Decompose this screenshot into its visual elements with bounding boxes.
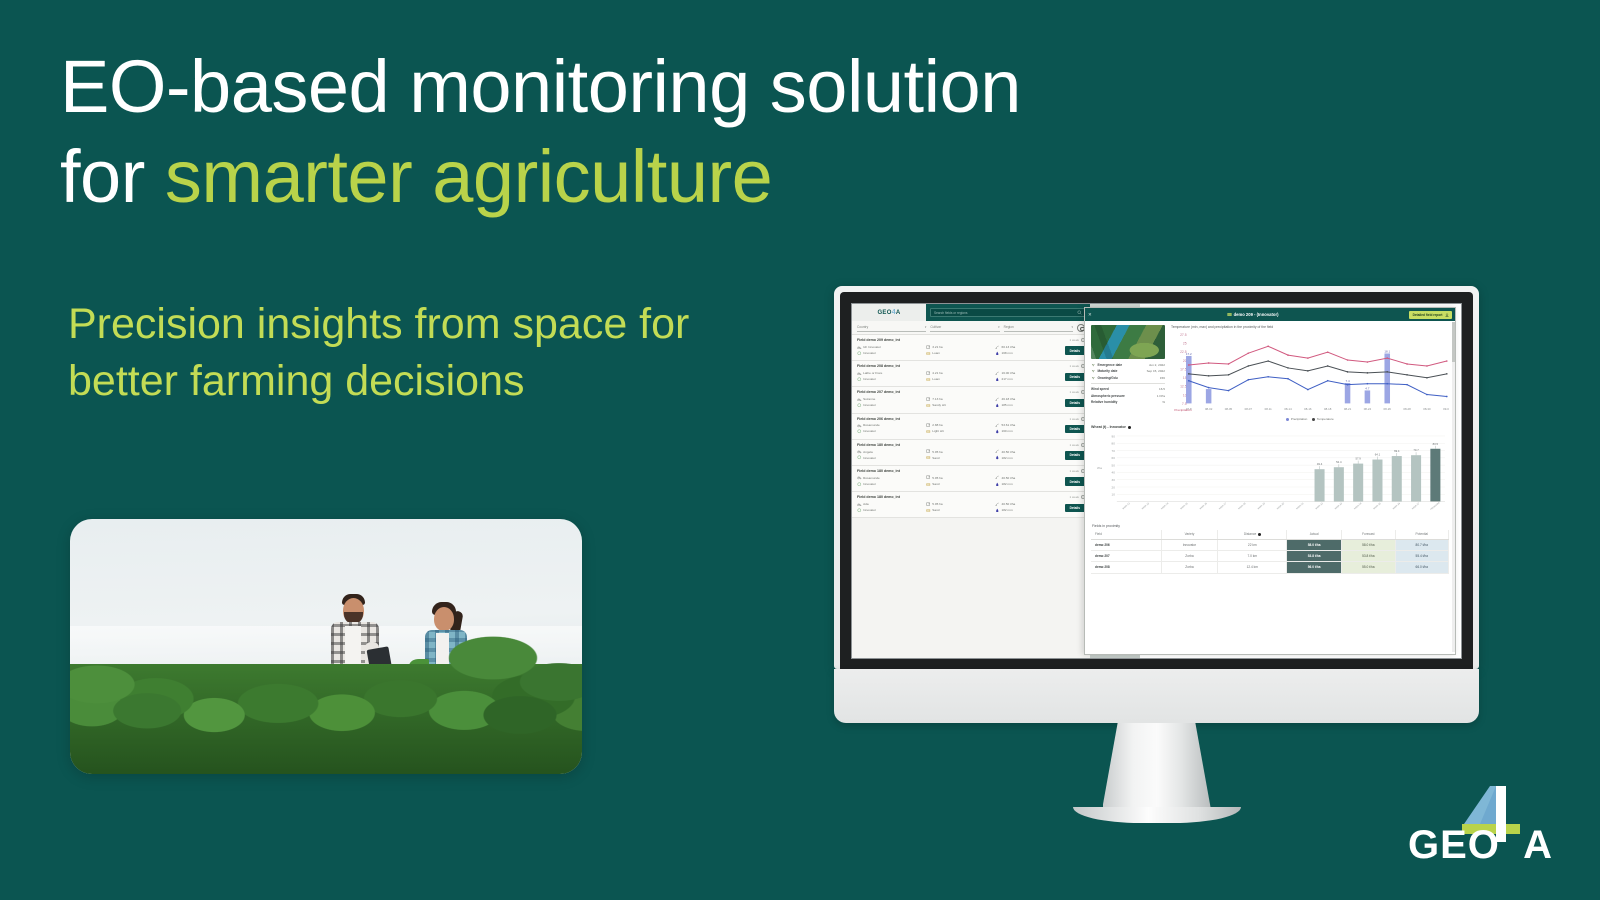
svg-text:week 28: week 28 <box>1238 502 1247 511</box>
field-card-area: 3.21 ha <box>926 345 992 350</box>
info-value: 1 hPa <box>1157 394 1165 398</box>
field-card[interactable]: Field demo 180 demo_int 1 week Angela In… <box>852 440 1090 466</box>
modal-title-text: demo 209 - (Innovator) <box>1234 312 1279 317</box>
field-card-status: Innovator <box>857 482 923 487</box>
table-column-header[interactable]: Variety <box>1161 530 1218 539</box>
field-card-header: Field demo 180 demo_int 1 week <box>857 443 1085 447</box>
svg-text:week 25: week 25 <box>1180 502 1189 511</box>
app-logo[interactable]: GEO4A <box>852 304 926 321</box>
field-card-growth: 182 mm <box>995 508 1061 513</box>
weather-chart: Temperature (min, max) and precipitation… <box>1171 325 1449 421</box>
yield-chart-svg: 908070605040302010t/haweek 22week 23week… <box>1091 430 1449 520</box>
field-card-details-button[interactable]: Details <box>1065 504 1085 512</box>
field-card-header: Field demo 206 demo_int 1 week <box>857 417 1085 421</box>
field-card-body: Lathe or Fiore Innovator 4.21 ha Loam 16… <box>857 371 1085 383</box>
table-column-header[interactable]: Potential <box>1395 530 1449 539</box>
field-card-growth: 182 mm <box>995 482 1061 487</box>
field-card-area: 5.05 ha <box>926 502 992 507</box>
legend-label: Temperature <box>1317 417 1334 421</box>
field-card-body: Rosamunde Innovator 5.05 ha Sand 40.50 t… <box>857 475 1085 487</box>
svg-text:08-02: 08-02 <box>1205 407 1213 411</box>
table-cell: 7.0 km <box>1218 550 1287 561</box>
field-card-soil: Sandy silt <box>926 403 992 408</box>
chevron-down-icon: ▾ <box>925 325 927 329</box>
svg-text:week 29: week 29 <box>1257 502 1266 511</box>
tractor-icon <box>857 449 862 454</box>
field-card[interactable]: Field demo 180 demo_int 1 week Rosamunde… <box>852 466 1090 492</box>
svg-text:25: 25 <box>1183 342 1187 346</box>
svg-text:week 24: week 24 <box>1160 502 1169 511</box>
field-card-yield: 53.61 t/ha <box>995 423 1061 428</box>
svg-text:12.5: 12.5 <box>1180 385 1187 389</box>
field-card-col-area: 5.05 ha Sand <box>926 502 992 514</box>
field-card-col-area: 3.21 ha Loam <box>926 345 992 357</box>
soil-icon <box>926 351 931 356</box>
field-card-meta: 1 week <box>1069 364 1085 368</box>
table-cell: 56.0 t/ha <box>1287 562 1342 573</box>
table-cell: demo 206 <box>1091 539 1161 550</box>
field-card[interactable]: Field demo 180 demo_int 1 week Ada Innov… <box>852 492 1090 518</box>
sprout-icon <box>1091 363 1096 368</box>
close-icon[interactable]: ✕ <box>1088 312 1096 318</box>
field-card-col-yield: 60.13 t/ha 168 mm <box>995 345 1061 357</box>
yield-chart-header: Wheat (t) - Innovator <box>1091 425 1449 429</box>
download-icon <box>1445 313 1449 317</box>
soil-icon <box>926 429 931 434</box>
logo-suffix: A <box>896 310 901 316</box>
field-card-col-area: 2.88 ha Light silt <box>926 423 992 435</box>
proximity-table: FieldVarietyDistanceActualForecastPotent… <box>1091 530 1449 574</box>
table-cell: 12.4 km <box>1218 562 1287 573</box>
svg-text:08-05: 08-05 <box>1225 407 1233 411</box>
weather-info-list: Wind speed16.5Atmospheric pressure1 hPaR… <box>1091 387 1165 403</box>
field-card[interactable]: Field demo 209 demo_int 1 week Ich Innov… <box>852 335 1090 361</box>
app-topbar: GEO4A Search fields or regions <box>852 304 1090 321</box>
svg-text:10: 10 <box>1112 493 1116 497</box>
monitor-stand-foot <box>1073 807 1241 823</box>
svg-text:50: 50 <box>1112 464 1116 468</box>
table-column-header[interactable]: Actual <box>1287 530 1342 539</box>
area-icon <box>926 423 931 428</box>
area-icon <box>926 371 931 376</box>
field-card-soil: Loam <box>926 377 992 382</box>
modal-body: Emergence dateJun 2, 2022Maturity dateSe… <box>1085 321 1455 654</box>
field-card-details-button[interactable]: Details <box>1065 346 1085 354</box>
field-card-col-variety: Ich Innovator Innovator <box>857 345 923 357</box>
field-card-growth: 182 mm <box>995 455 1061 460</box>
field-card-variety: Rosamunde <box>857 475 923 480</box>
field-card-title: Field demo 180 demo_int <box>857 443 900 447</box>
hero-photo <box>70 519 582 774</box>
field-card-yield: 40.50 t/ha <box>995 449 1061 454</box>
table-cell: 55.4 t/ha <box>1395 550 1449 561</box>
table-cell: 22 km <box>1218 539 1287 550</box>
legend-dot <box>1286 418 1289 421</box>
tractor-icon <box>857 345 862 350</box>
svg-text:80: 80 <box>1112 442 1116 446</box>
field-card-status: Innovator <box>857 455 923 460</box>
field-card[interactable]: Field demo 206 demo_int 1 week Rosamunde… <box>852 414 1090 440</box>
svg-text:7.5: 7.5 <box>1182 402 1187 406</box>
svg-text:week 32: week 32 <box>1315 502 1324 511</box>
field-card-yield: 40.50 t/ha <box>995 502 1061 507</box>
svg-text:week 36: week 36 <box>1392 502 1401 511</box>
search-wrapper: Search fields or regions <box>926 308 1090 317</box>
water-drop-icon <box>995 429 1000 434</box>
chevron-down-icon: ▾ <box>998 325 1000 329</box>
wheat-icon <box>1091 369 1096 374</box>
table-row[interactable]: demo 208Zorba12.4 km56.0 t/ha55.0 t/ha66… <box>1091 562 1449 573</box>
status-circle-icon <box>857 508 862 513</box>
table-cell: 58.0 t/ha <box>1287 539 1342 550</box>
svg-text:08-11: 08-11 <box>1265 407 1273 411</box>
proximity-table-title: Fields in proximity <box>1092 524 1449 528</box>
crop-canopy-left <box>70 658 192 774</box>
detailed-field-report-button[interactable]: Detailed field report <box>1409 311 1452 319</box>
field-card-col-yield: 53.61 t/ha 160 mm <box>995 423 1061 435</box>
table-cell: Zorba <box>1161 550 1218 561</box>
field-card-growth: 168 mm <box>995 351 1061 356</box>
svg-text:70: 70 <box>1112 449 1116 453</box>
field-card-status: Innovator <box>857 351 923 356</box>
weather-info-row: Relative humidity% <box>1091 400 1165 404</box>
field-card-area: 2.88 ha <box>926 423 992 428</box>
info-value: Jun 2, 2022 <box>1149 363 1165 367</box>
brand-suffix: A <box>1523 823 1553 867</box>
field-card-col-yield: 16.00 t/ha 217 mm <box>995 371 1061 383</box>
svg-text:17.5: 17.5 <box>1180 367 1187 371</box>
field-card-details-button[interactable]: Details <box>1065 477 1085 485</box>
field-card-body: Ada Innovator 5.05 ha Sand 40.50 t/ha 18… <box>857 502 1085 514</box>
modal-header: ✕ demo 209 - (Innovator) Detailed field … <box>1085 308 1455 321</box>
sort-indicator-icon <box>1258 533 1261 536</box>
svg-text:40: 40 <box>1112 471 1116 475</box>
svg-text:08-26: 08-26 <box>1384 407 1392 411</box>
search-icon <box>1077 310 1082 315</box>
svg-text:20: 20 <box>1112 486 1116 490</box>
svg-text:70.7: 70.7 <box>1413 448 1419 452</box>
soil-icon <box>926 482 931 487</box>
field-card-variety: Ada <box>857 502 923 507</box>
table-cell: 55.0 t/ha <box>1342 562 1395 573</box>
field-card-meta: 1 week <box>1069 390 1085 394</box>
svg-text:64.1: 64.1 <box>1375 453 1381 457</box>
report-button-label: Detailed field report <box>1413 313 1443 317</box>
water-drop-icon <box>995 508 1000 513</box>
svg-text:08-07: 08-07 <box>1245 407 1253 411</box>
field-card-body: Suzanne Innovator 7.13 ha Sandy silt 46.… <box>857 397 1085 409</box>
field-card-soil: Sand <box>926 455 992 460</box>
table-cell: Innovator <box>1161 539 1218 550</box>
search-placeholder: Search fields or regions <box>934 311 968 315</box>
legend-item[interactable]: Precipitation <box>1286 417 1307 421</box>
field-card-title: Field demo 180 demo_int <box>857 495 900 499</box>
field-card[interactable]: Field demo 208 demo_int 1 week Lathe or … <box>852 361 1090 387</box>
weather-chart-legend: PrecipitationTemperature <box>1171 417 1449 421</box>
svg-text:week 30: week 30 <box>1276 502 1285 511</box>
svg-text:week 33: week 33 <box>1334 502 1343 511</box>
weather-chart-title: Temperature (min, max) and precipitation… <box>1171 325 1449 329</box>
field-card-details-button[interactable]: Details <box>1065 451 1085 459</box>
table-cell: 80.7 t/ha <box>1395 539 1449 550</box>
info-value: 16.5 <box>1159 387 1165 391</box>
svg-text:08-16: 08-16 <box>1304 407 1312 411</box>
table-row[interactable]: demo 206Innovator22 km58.0 t/ha58.0 t/ha… <box>1091 539 1449 550</box>
field-card-list[interactable]: Field demo 209 demo_int 1 week Ich Innov… <box>852 335 1090 658</box>
yield-icon <box>995 397 1000 402</box>
field-card-variety: Rosamunde <box>857 423 923 428</box>
field-card-growth: 217 mm <box>995 377 1061 382</box>
table-column-header[interactable]: Forecast <box>1342 530 1395 539</box>
info-label: Atmospheric pressure <box>1091 394 1155 398</box>
headline-line-2-lime: smarter agriculture <box>165 135 772 218</box>
field-card-title: Field demo 209 demo_int <box>857 338 900 342</box>
svg-text:17.2: 17.2 <box>1186 352 1192 356</box>
field-info-row: Emergence dateJun 2, 2022 <box>1091 363 1165 368</box>
tractor-icon <box>857 423 862 428</box>
field-info-row: Maturity dateSep 15, 2022 <box>1091 369 1165 374</box>
info-label: Relative humidity <box>1091 400 1160 404</box>
field-card-col-yield: 40.50 t/ha 182 mm <box>995 475 1061 487</box>
legend-label: Precipitation <box>1291 417 1308 421</box>
svg-text:08-21: 08-21 <box>1344 407 1352 411</box>
svg-text:week 27: week 27 <box>1218 502 1227 511</box>
modal-scrollbar[interactable] <box>1452 322 1455 652</box>
svg-text:08-24: 08-24 <box>1364 407 1372 411</box>
field-card-header: Field demo 209 demo_int 1 week <box>857 338 1085 342</box>
field-info-list: Emergence dateJun 2, 2022Maturity dateSe… <box>1091 363 1165 381</box>
area-icon <box>926 502 931 507</box>
svg-text:week 37: week 37 <box>1411 502 1420 511</box>
tractor-icon <box>857 475 862 480</box>
field-card-status: Innovator <box>857 403 923 408</box>
chevron-down-icon: ▾ <box>1071 325 1073 329</box>
field-card-area: 5.05 ha <box>926 449 992 454</box>
table-cell: 53.8 t/ha <box>1342 550 1395 561</box>
brand-text: GEO4A <box>1408 823 1553 868</box>
svg-text:week 22: week 22 <box>1122 502 1131 511</box>
field-card-details-button[interactable]: Details <box>1065 399 1085 407</box>
field-card-yield: 40.50 t/ha <box>995 475 1061 480</box>
water-drop-icon <box>995 351 1000 356</box>
svg-text:80.5: 80.5 <box>1433 442 1439 446</box>
field-card-body: Angela Innovator 5.05 ha Sand 40.50 t/ha… <box>857 449 1085 461</box>
field-card-variety: Angela <box>857 449 923 454</box>
field-card-area: 7.13 ha <box>926 397 992 402</box>
table-row[interactable]: demo 207Zorba7.0 km53.8 t/ha53.8 t/ha55.… <box>1091 550 1449 561</box>
field-card-col-variety: Ada Innovator <box>857 502 923 514</box>
field-card-soil: Light silt <box>926 429 992 434</box>
field-card-title: Field demo 180 demo_int <box>857 469 900 473</box>
field-card-yield: 16.00 t/ha <box>995 371 1061 376</box>
logo-text: GEO <box>877 310 891 316</box>
filter-bar: Country▾ Cultivar▾ Region▾ <box>852 321 1090 335</box>
crop-canopy-right <box>448 628 582 774</box>
field-card-meta: 1 week <box>1069 469 1085 473</box>
area-icon <box>926 449 931 454</box>
field-card-status: Innovator <box>857 508 923 513</box>
yield-icon <box>995 502 1000 507</box>
brand-name: GEO <box>1408 823 1500 867</box>
info-label: Emergence date <box>1098 363 1147 367</box>
svg-text:week 35: week 35 <box>1373 502 1382 511</box>
svg-text:52.4: 52.4 <box>1336 460 1342 464</box>
weather-row: Emergence dateJun 2, 2022Maturity dateSe… <box>1091 325 1449 421</box>
headline-line-1: EO-based monitoring solution <box>60 42 880 132</box>
field-card-details-button[interactable]: Details <box>1065 373 1085 381</box>
legend-dot <box>1312 418 1315 421</box>
soil-icon <box>926 377 931 382</box>
yield-chart-title: Wheat (t) - Innovator <box>1091 425 1126 429</box>
field-card-col-variety: Lathe or Fiore Innovator <box>857 371 923 383</box>
field-card-col-variety: Angela Innovator <box>857 449 923 461</box>
field-card-area: 5.05 ha <box>926 475 992 480</box>
field-card-variety: Lathe or Fiore <box>857 371 923 376</box>
svg-text:08-18: 08-18 <box>1324 407 1332 411</box>
status-circle-icon <box>857 351 862 356</box>
svg-text:week 34: week 34 <box>1353 502 1362 511</box>
area-icon <box>926 397 931 402</box>
filter-select-region[interactable]: Region▾ <box>1004 324 1073 332</box>
svg-text:7.4: 7.4 <box>1345 379 1350 383</box>
field-info-row: Growing/Gdu156 <box>1091 376 1165 381</box>
water-drop-icon <box>995 455 1000 460</box>
filter-select-country[interactable]: Country▾ <box>857 324 926 332</box>
monitor-inner-frame: GEO4A Search fields or regions <box>840 292 1473 669</box>
field-card-header: Field demo 208 demo_int 1 week <box>857 364 1085 368</box>
field-card-meta: 1 week <box>1069 495 1085 499</box>
table-column-header[interactable]: Distance <box>1218 530 1287 539</box>
table-cell: 53.8 t/ha <box>1287 550 1342 561</box>
status-circle-icon <box>857 377 862 382</box>
yield-icon <box>995 345 1000 350</box>
table-cell: demo 208 <box>1091 562 1161 573</box>
weather-chart-svg: 27.52522.52017.51512.5107.517.27.44.718.… <box>1171 330 1449 417</box>
water-drop-icon <box>995 403 1000 408</box>
tractor-icon <box>857 371 862 376</box>
monitor-chin <box>834 669 1479 723</box>
svg-text:60: 60 <box>1112 456 1116 460</box>
field-card-meta: 1 week <box>1069 443 1085 447</box>
monitor-stand-neck <box>1103 723 1211 807</box>
info-label: Wind speed <box>1091 387 1157 391</box>
field-card-variety: Suzanne <box>857 397 923 402</box>
field-card-soil: Sand <box>926 508 992 513</box>
info-value: % <box>1162 400 1165 404</box>
svg-text:27.5: 27.5 <box>1180 333 1187 337</box>
info-label: Growing/Gdu <box>1098 376 1158 380</box>
field-thumbnail[interactable] <box>1091 325 1165 359</box>
filter-select-cultivar[interactable]: Cultivar▾ <box>930 324 999 332</box>
table-header-row: FieldVarietyDistanceActualForecastPotent… <box>1091 530 1449 539</box>
field-card-meta: 1 week <box>1069 417 1085 421</box>
table-cell: 66.0 t/ha <box>1395 562 1449 573</box>
yield-icon <box>995 475 1000 480</box>
modal-title: demo 209 - (Innovator) <box>1227 312 1279 317</box>
field-card-soil: Loam <box>926 351 992 356</box>
field-summary: Emergence dateJun 2, 2022Maturity dateSe… <box>1091 325 1165 421</box>
status-circle-icon <box>857 482 862 487</box>
table-cell: 58.0 t/ha <box>1342 539 1395 550</box>
field-card-soil: Sand <box>926 482 992 487</box>
monitor-mockup: GEO4A Search fields or regions <box>834 286 1479 823</box>
soil-icon <box>926 403 931 408</box>
legend-item[interactable]: Temperature <box>1312 417 1333 421</box>
svg-text:Harvested: Harvested <box>1430 501 1441 511</box>
dashboard-left-panel: GEO4A Search fields or regions <box>852 304 1090 658</box>
field-card-header: Field demo 180 demo_int 1 week <box>857 495 1085 499</box>
field-icon <box>1227 312 1232 317</box>
field-card-status: Innovator <box>857 377 923 382</box>
field-card-variety: Ich Innovator <box>857 345 923 350</box>
svg-text:30: 30 <box>1112 478 1116 482</box>
table-cell: Zorba <box>1161 562 1218 573</box>
weather-info-row: Atmospheric pressure1 hPa <box>1091 394 1165 398</box>
field-card-yield: 60.13 t/ha <box>995 345 1061 350</box>
field-card[interactable]: Field demo 207 demo_int 1 week Suzanne I… <box>852 387 1090 413</box>
svg-text:08-30: 08-30 <box>1423 407 1431 411</box>
svg-text:t/ha: t/ha <box>1097 466 1102 470</box>
svg-text:Precipitation: Precipitation <box>1174 408 1191 412</box>
weather-info-row: Wind speed16.5 <box>1091 387 1165 391</box>
table-column-header[interactable]: Field <box>1091 530 1161 539</box>
field-card-title: Field demo 208 demo_int <box>857 364 900 368</box>
brand-logo: GEO4A <box>1408 784 1558 870</box>
field-card-body: Ich Innovator Innovator 3.21 ha Loam 60.… <box>857 345 1085 357</box>
status-circle-icon <box>857 429 862 434</box>
scrollbar-thumb[interactable] <box>1452 322 1455 362</box>
headline-line-2-white: for <box>60 135 165 218</box>
field-card-title: Field demo 207 demo_int <box>857 390 900 394</box>
monitor-screen: GEO4A Search fields or regions <box>851 303 1462 659</box>
field-card-col-area: 5.05 ha Sand <box>926 449 992 461</box>
tractor-icon <box>857 502 862 507</box>
field-card-col-variety: Suzanne Innovator <box>857 397 923 409</box>
water-drop-icon <box>995 482 1000 487</box>
status-circle-icon <box>857 455 862 460</box>
field-card-col-variety: Rosamunde Innovator <box>857 423 923 435</box>
field-card-body: Rosamunde Innovator 2.88 ha Light silt 5… <box>857 423 1085 435</box>
soil-icon <box>926 455 931 460</box>
tractor-icon <box>857 397 862 402</box>
yield-icon <box>995 371 1000 376</box>
headline-line-2: for smarter agriculture <box>60 132 880 222</box>
field-card-growth: 185 mm <box>995 403 1061 408</box>
soil-icon <box>926 508 931 513</box>
divider <box>1091 383 1165 384</box>
field-card-col-yield: 40.50 t/ha 182 mm <box>995 502 1061 514</box>
field-card-col-yield: 46.18 t/ha 185 mm <box>995 397 1061 409</box>
field-card-yield: 46.18 t/ha <box>995 397 1061 402</box>
table-body: demo 206Innovator22 km58.0 t/ha58.0 t/ha… <box>1091 539 1449 573</box>
table-cell: demo 207 <box>1091 550 1161 561</box>
field-card-meta: 1 week <box>1069 338 1085 342</box>
hero-subheadline: Precision insights from space for better… <box>68 296 728 410</box>
svg-text:09-01: 09-01 <box>1443 407 1449 411</box>
field-card-col-yield: 40.50 t/ha 182 mm <box>995 449 1061 461</box>
field-card-col-area: 5.05 ha Sand <box>926 475 992 487</box>
field-card-details-button[interactable]: Details <box>1065 425 1085 433</box>
svg-text:08-28: 08-28 <box>1403 407 1411 411</box>
svg-text:4.7: 4.7 <box>1365 386 1370 390</box>
field-card-header: Field demo 207 demo_int 1 week <box>857 390 1085 394</box>
search-input[interactable]: Search fields or regions <box>930 308 1086 317</box>
svg-text:49.4: 49.4 <box>1317 462 1323 466</box>
field-card-area: 4.21 ha <box>926 371 992 376</box>
field-card-col-area: 7.13 ha Sandy silt <box>926 397 992 409</box>
status-circle-icon <box>857 403 862 408</box>
hero-headline: EO-based monitoring solution for smarter… <box>60 42 880 223</box>
